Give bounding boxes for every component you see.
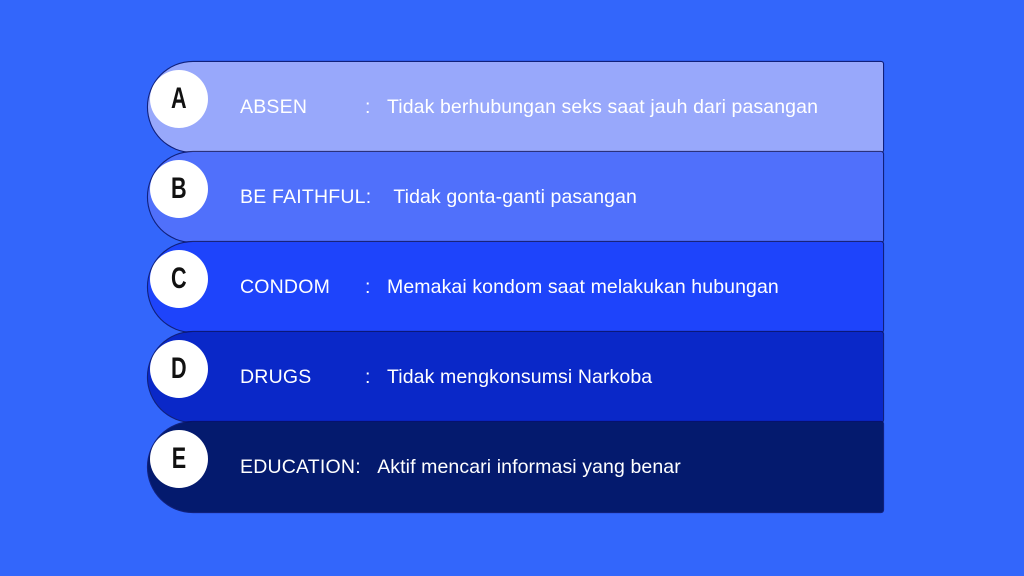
- abcde-list: A ABSEN : Tidak berhubungan seks saat ja…: [0, 62, 1024, 512]
- description-text: Memakai kondom saat melakukan hubungan: [387, 276, 779, 299]
- badge-letter: D: [171, 354, 187, 384]
- term-label: EDUCATION: [240, 456, 355, 479]
- description-text: Tidak berhubungan seks saat jauh dari pa…: [387, 96, 818, 119]
- list-item[interactable]: A ABSEN : Tidak berhubungan seks saat ja…: [0, 62, 1024, 152]
- row-text-e: EDUCATION : Aktif mencari informasi yang…: [240, 422, 681, 512]
- letter-badge-d: D: [150, 340, 208, 398]
- term-label: ABSEN: [240, 96, 365, 119]
- row-text-d: DRUGS : Tidak mengkonsumsi Narkoba: [240, 332, 652, 422]
- description-text: Tidak mengkonsumsi Narkoba: [387, 366, 652, 389]
- description-text: Tidak gonta-ganti pasangan: [393, 186, 637, 209]
- separator-colon: :: [365, 96, 387, 119]
- letter-badge-b: B: [150, 160, 208, 218]
- term-label: CONDOM: [240, 276, 365, 299]
- badge-letter: E: [172, 444, 186, 474]
- row-text-b: BE FAITHFUL: Tidak gonta-ganti pasangan: [240, 152, 637, 242]
- term-label: DRUGS: [240, 366, 365, 389]
- separator-colon: :: [365, 366, 387, 389]
- term-label: BE FAITHFUL:: [240, 186, 371, 209]
- row-text-a: ABSEN : Tidak berhubungan seks saat jauh…: [240, 62, 818, 152]
- badge-letter: A: [171, 84, 187, 114]
- list-item[interactable]: C CONDOM : Memakai kondom saat melakukan…: [0, 242, 1024, 332]
- badge-letter: B: [171, 174, 187, 204]
- letter-badge-c: C: [150, 250, 208, 308]
- separator-colon: :: [365, 276, 387, 299]
- separator-colon: :: [355, 456, 377, 479]
- description-text: Aktif mencari informasi yang benar: [377, 456, 681, 479]
- row-text-c: CONDOM : Memakai kondom saat melakukan h…: [240, 242, 779, 332]
- list-item[interactable]: E EDUCATION : Aktif mencari informasi ya…: [0, 422, 1024, 512]
- letter-badge-e: E: [150, 430, 208, 488]
- letter-badge-a: A: [150, 70, 208, 128]
- list-item[interactable]: B BE FAITHFUL: Tidak gonta-ganti pasanga…: [0, 152, 1024, 242]
- badge-letter: C: [171, 264, 187, 294]
- list-item[interactable]: D DRUGS : Tidak mengkonsumsi Narkoba: [0, 332, 1024, 422]
- slide-root: A ABSEN : Tidak berhubungan seks saat ja…: [0, 0, 1024, 576]
